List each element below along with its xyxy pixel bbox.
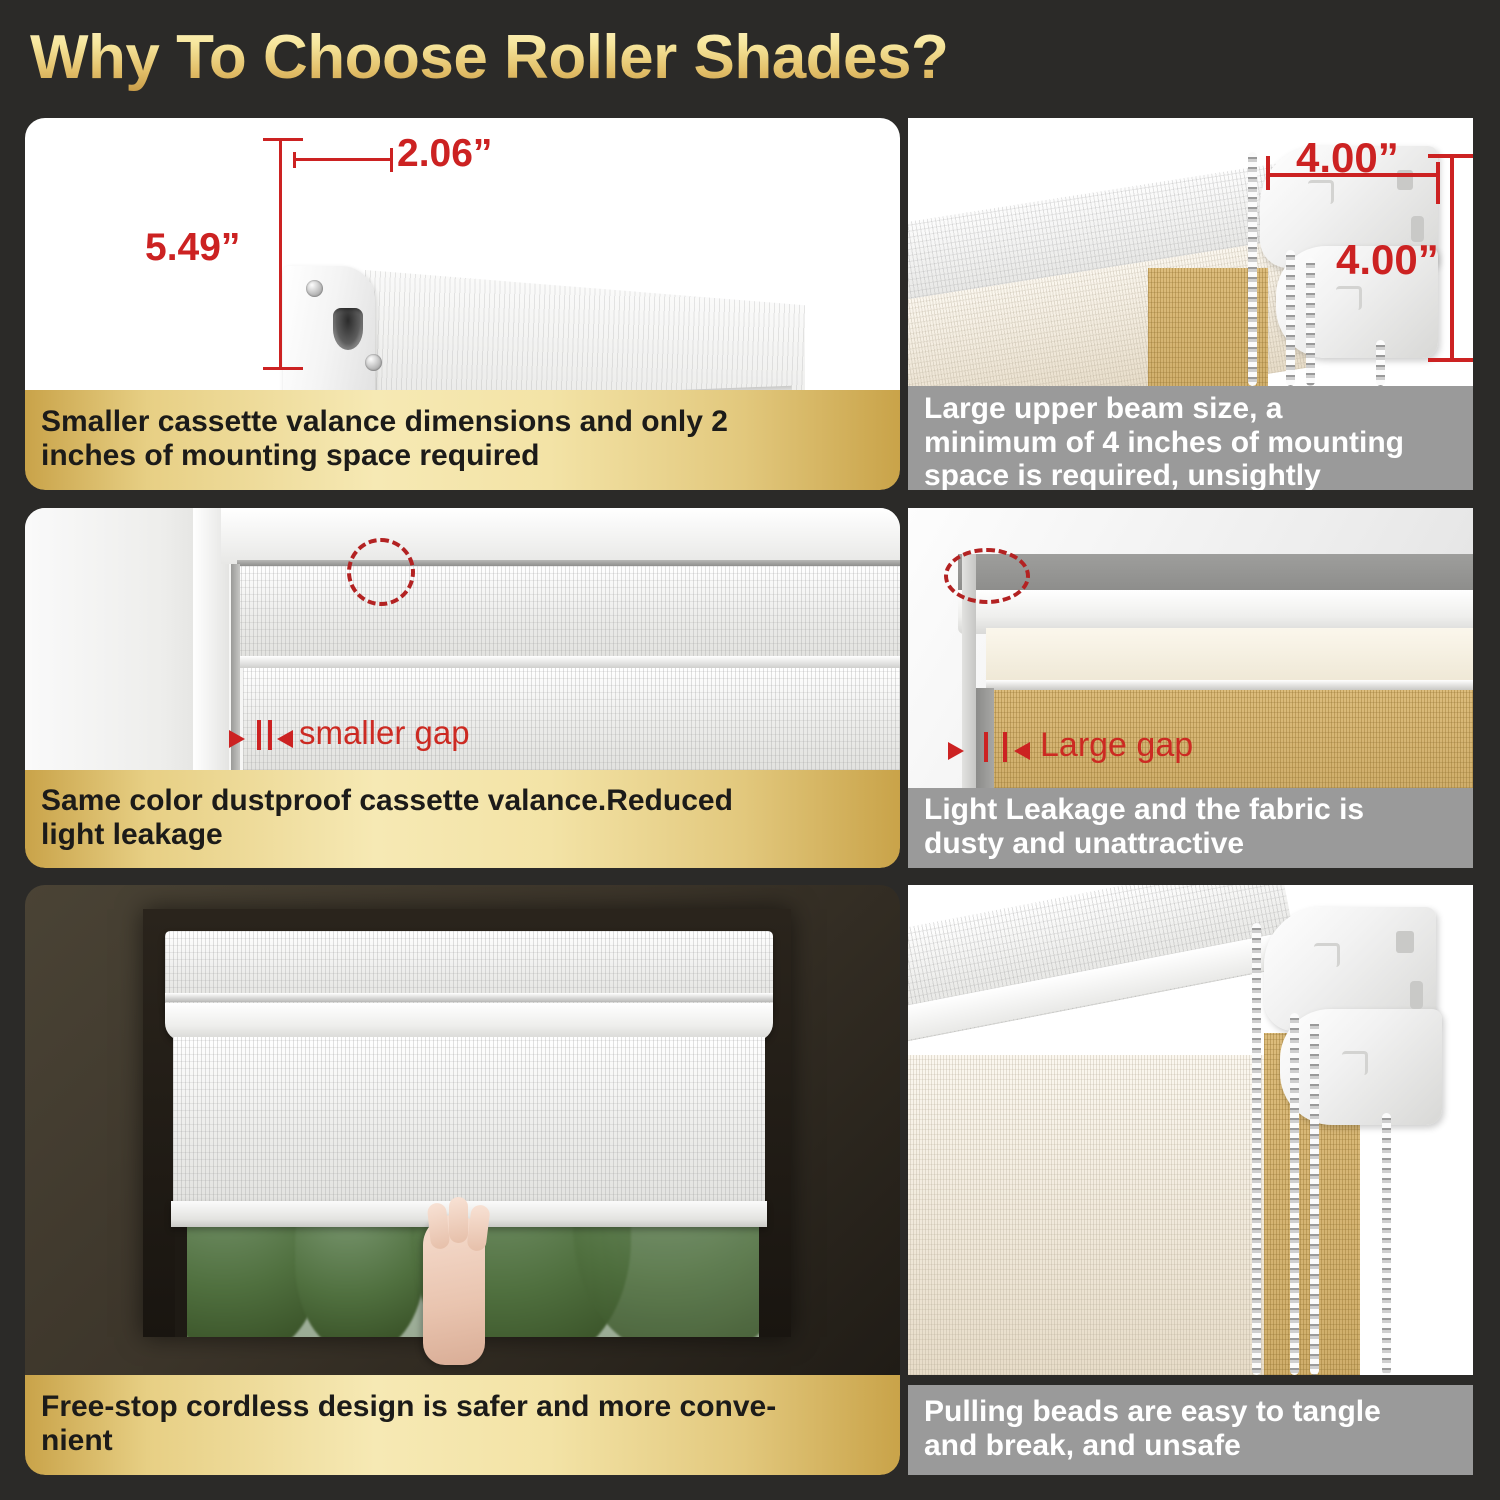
- gap-marker-left: [257, 720, 261, 750]
- valance-slot: [333, 308, 363, 350]
- panel-6-caption: Pulling beads are easy to tangle and bre…: [908, 1385, 1473, 1475]
- valance-groove: [165, 993, 773, 1002]
- valance-body-upper: [365, 270, 805, 390]
- panel-1-caption: Smaller cassette valance dimensions and …: [25, 390, 900, 490]
- gap-marker-right: [1003, 732, 1007, 762]
- valance-lip: [165, 1003, 773, 1041]
- gap-arrow-left-icon: [277, 730, 293, 748]
- bead-chain: [1310, 1019, 1319, 1375]
- panel-6-caption-line-1: Pulling beads are easy to tangle: [924, 1395, 1381, 1429]
- panel-3-caption: Same color dustproof cassette valance.Re…: [25, 770, 900, 868]
- panel-cordless-design: Free-stop cordless design is safer and m…: [25, 885, 900, 1475]
- bead-chain: [1382, 1113, 1391, 1375]
- valance-face: [237, 566, 900, 658]
- width-dimension-label: 2.06”: [397, 132, 492, 176]
- bead-chain: [1252, 923, 1261, 1375]
- shade-fabric-cream: [908, 1055, 1288, 1375]
- bracket-emboss-icon: [1342, 1051, 1368, 1075]
- width-dim-tick-left: [1266, 156, 1270, 190]
- shade-fabric: [173, 1037, 765, 1209]
- bracket-notch-icon: [1396, 931, 1414, 953]
- highlight-circle: [944, 548, 1030, 604]
- panel-5-caption-line-1: Free-stop cordless design is safer and m…: [41, 1390, 776, 1424]
- height-dim-line: [1450, 154, 1454, 362]
- height-dim-tick-top: [263, 138, 303, 141]
- gap-marker-left: [984, 732, 988, 762]
- panel-3-caption-line-1: Same color dustproof cassette valance.Re…: [41, 784, 733, 818]
- bead-chain: [1290, 1013, 1299, 1375]
- panel-pulling-beads: Pulling beads are easy to tangle and bre…: [908, 885, 1473, 1475]
- bracket-emboss-icon: [1308, 180, 1334, 204]
- panel-cassette-dimensions: 2.06” 5.49” Smaller cassette valance dim…: [25, 118, 900, 490]
- width-dim-line: [293, 158, 393, 161]
- smaller-gap-label: smaller gap: [299, 714, 470, 752]
- panel-1-photo: 2.06” 5.49”: [25, 118, 900, 390]
- width-dim-tick-right: [390, 148, 393, 172]
- gap-marker-right: [268, 720, 272, 750]
- bead-chain: [1306, 258, 1315, 386]
- panel-smaller-gap: smaller gap Same color dustproof cassett…: [25, 508, 900, 868]
- panel-1-caption-line-2: inches of mounting space required: [41, 439, 728, 473]
- screw-icon: [365, 354, 382, 371]
- page-title: Why To Choose Roller Shades?: [30, 22, 948, 93]
- height-dim-tick-bottom: [1428, 358, 1473, 362]
- width-dim-tick-left: [293, 152, 296, 168]
- bead-chain: [1286, 250, 1295, 386]
- width-dimension-label: 4.00”: [1296, 134, 1399, 182]
- panel-4-caption: Light Leakage and the fabric is dusty an…: [908, 788, 1473, 868]
- bracket-slot-icon: [1410, 981, 1423, 1009]
- window-trim-top: [221, 508, 900, 564]
- gap-arrow-right-icon: [948, 742, 964, 760]
- height-dim-tick-top: [1428, 154, 1473, 158]
- panel-4-photo: Large gap: [908, 508, 1473, 788]
- height-dimension-label: 4.00”: [1336, 236, 1439, 284]
- gap-arrow-right-icon: [229, 730, 245, 748]
- panel-3-photo: smaller gap: [25, 508, 900, 770]
- panel-2-caption: Large upper beam size, a minimum of 4 in…: [908, 386, 1473, 490]
- bead-chain: [1248, 152, 1257, 386]
- width-dim-tick-right: [1436, 162, 1440, 204]
- panel-6-photo: [908, 885, 1473, 1375]
- panel-3-caption-line-2: light leakage: [41, 818, 733, 852]
- panel-4-caption-line-1: Light Leakage and the fabric is: [924, 793, 1364, 827]
- panel-2-caption-line-2: minimum of 4 inches of mounting: [924, 426, 1404, 460]
- panel-large-upper-beam: 4.00” 4.00” Large upper beam size, a min…: [908, 118, 1473, 490]
- bracket-emboss-icon: [1314, 943, 1340, 967]
- height-dim-line: [279, 138, 282, 370]
- bead-chain: [1376, 340, 1385, 386]
- panel-4-caption-line-2: dusty and unattractive: [924, 827, 1364, 861]
- highlight-circle: [347, 538, 415, 606]
- panel-2-photo: 4.00” 4.00”: [908, 118, 1473, 386]
- panel-2-caption-line-1: Large upper beam size, a: [924, 392, 1404, 426]
- height-dim-tick-bottom: [263, 367, 303, 370]
- valance-cream-face: [986, 628, 1473, 682]
- gap-arrow-left-icon: [1014, 742, 1030, 760]
- panel-6-caption-line-2: and break, and unsafe: [924, 1429, 1381, 1463]
- panel-1-caption-line-1: Smaller cassette valance dimensions and …: [41, 405, 728, 439]
- panel-5-caption-line-2: nient: [41, 1424, 776, 1458]
- upper-beam-top: [958, 554, 1473, 594]
- large-gap-label: Large gap: [1040, 726, 1193, 765]
- panel-2-caption-line-3: space is required, unsightly: [924, 459, 1404, 490]
- finger: [449, 1197, 468, 1243]
- panel-5-photo: [25, 885, 900, 1375]
- screw-icon: [306, 280, 323, 297]
- valance-lip: [986, 680, 1473, 690]
- bracket-emboss-icon: [1336, 286, 1362, 310]
- valance-lip: [237, 656, 900, 668]
- panel-large-gap: Large gap Light Leakage and the fabric i…: [908, 508, 1473, 868]
- height-dimension-label: 5.49”: [145, 226, 240, 270]
- panel-5-caption: Free-stop cordless design is safer and m…: [25, 1375, 900, 1475]
